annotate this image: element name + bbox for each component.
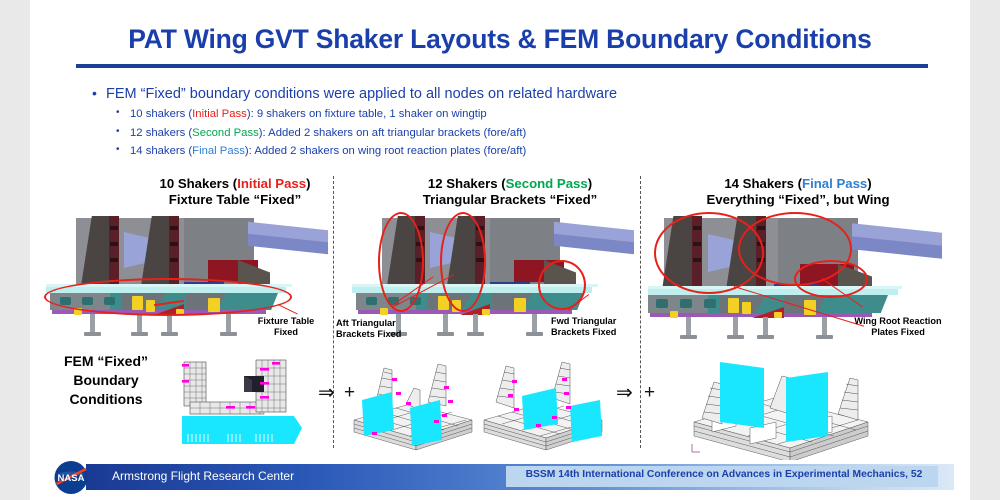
fem-fixed-region-2b-left bbox=[522, 388, 558, 430]
col2-paren: ) bbox=[588, 176, 592, 191]
col3-subtitle: Everything “Fixed”, but Wing bbox=[650, 192, 946, 208]
fem-fixed-region-2a-left bbox=[362, 392, 394, 436]
bullet-main: FEM “Fixed” boundary conditions were app… bbox=[90, 86, 910, 102]
col3-count: 14 Shakers ( bbox=[724, 176, 802, 191]
bullet-sub-2-highlight: Second Pass bbox=[192, 127, 259, 139]
operator-plus-2: + bbox=[644, 383, 655, 402]
fem-mesh-svg-2b bbox=[478, 358, 608, 454]
annotation-fwd-triangular: Fwd Triangular Brackets Fixed bbox=[551, 316, 637, 338]
column-separator-1 bbox=[333, 176, 334, 448]
annotation-wing-root: Wing Root Reaction Plates Fixed bbox=[843, 316, 953, 338]
bullet-sub-1-prefix: 10 shakers ( bbox=[130, 108, 192, 120]
column-header-2: 12 Shakers (Second Pass) Triangular Brac… bbox=[372, 176, 648, 207]
annotation-wing-root-line1: Wing Root Reaction bbox=[854, 316, 941, 326]
nasa-logo-text: NASA bbox=[58, 473, 85, 484]
column-header-3: 14 Shakers (Final Pass) Everything “Fixe… bbox=[650, 176, 946, 207]
col2-count: 12 Shakers ( bbox=[428, 176, 506, 191]
annotation-aft-line1: Aft Triangular bbox=[336, 318, 396, 328]
annotation-fixture-table: Fixture Table Fixed bbox=[244, 316, 328, 338]
bullet-sub-2-prefix: 12 shakers ( bbox=[130, 127, 192, 139]
column-separator-2 bbox=[640, 176, 641, 448]
fem-mesh-final-pass bbox=[678, 356, 883, 460]
annotation-fwd-line2: Brackets Fixed bbox=[551, 327, 616, 337]
annotation-fwd-line1: Fwd Triangular bbox=[551, 316, 616, 326]
fem-label-line2: Boundary bbox=[73, 372, 138, 388]
annotation-wing-root-line2: Plates Fixed bbox=[871, 327, 925, 337]
bullet-sub-2-suffix: ): Added 2 shakers on aft triangular bra… bbox=[259, 127, 527, 139]
bullet-sub-1-suffix: ): 9 shakers on fixture table, 1 shaker … bbox=[247, 108, 487, 120]
bullet-sub-1: 10 shakers (Initial Pass): 9 shakers on … bbox=[90, 107, 910, 121]
footer-center-name: Armstrong Flight Research Center bbox=[112, 469, 294, 483]
fem-mesh-initial-pass bbox=[182, 358, 332, 454]
annotation-aft-line2: Brackets Fixed bbox=[336, 329, 401, 339]
fem-fixed-plate-right bbox=[786, 372, 828, 442]
col3-pass-label: Final Pass bbox=[802, 176, 867, 191]
fem-fixed-plate-left bbox=[720, 362, 764, 428]
annotation-fixture-table-line1: Fixture Table bbox=[258, 316, 315, 326]
bullet-sub-2: 12 shakers (Second Pass): Added 2 shaker… bbox=[90, 126, 910, 140]
slide-canvas: PAT Wing GVT Shaker Layouts & FEM Bounda… bbox=[0, 0, 1000, 500]
col1-paren: ) bbox=[306, 176, 310, 191]
bullet-sub-3-highlight: Final Pass bbox=[192, 145, 245, 157]
bullet-sub-3-suffix: ): Added 2 shakers on wing root reaction… bbox=[245, 145, 526, 157]
col2-subtitle: Triangular Brackets “Fixed” bbox=[372, 192, 648, 208]
footer-conference-text: BSSM 14th International Conference on Ad… bbox=[512, 469, 936, 480]
right-margin-band bbox=[970, 0, 1000, 500]
page-title: PAT Wing GVT Shaker Layouts & FEM Bounda… bbox=[60, 24, 940, 55]
highlight-ellipse-fixture-table bbox=[44, 278, 292, 316]
fem-label-line3: Conditions bbox=[69, 391, 142, 407]
nasa-logo: NASA bbox=[50, 460, 112, 495]
col1-pass-label: Initial Pass bbox=[237, 176, 306, 191]
fem-mesh-second-pass-a bbox=[348, 358, 478, 454]
fem-mesh-svg-1 bbox=[182, 358, 332, 454]
operator-arrow-2: ⇒ bbox=[616, 382, 633, 402]
col3-paren: ) bbox=[867, 176, 871, 191]
col1-count: 10 Shakers ( bbox=[159, 176, 237, 191]
fem-mesh-second-pass-b bbox=[478, 358, 608, 454]
fem-boundary-conditions-label: FEM “Fixed” Boundary Conditions bbox=[36, 352, 176, 409]
coordinate-axes-icon bbox=[692, 444, 700, 452]
fem-fixed-region-2b-right bbox=[570, 400, 602, 442]
leader-line-fixture-table bbox=[278, 304, 298, 315]
highlight-ellipse-reaction-plate bbox=[794, 260, 868, 298]
bullet-sub-3-prefix: 14 shakers ( bbox=[130, 145, 192, 157]
bullet-sub-3: 14 shakers (Final Pass): Added 2 shakers… bbox=[90, 144, 910, 158]
bullet-sub-1-highlight: Initial Pass bbox=[192, 108, 247, 120]
col2-pass-label: Second Pass bbox=[506, 176, 588, 191]
left-margin-band bbox=[0, 0, 30, 500]
operator-arrow-1: ⇒ bbox=[318, 382, 335, 402]
col1-subtitle: Fixture Table “Fixed” bbox=[100, 192, 370, 208]
fem-mesh-svg-2a bbox=[348, 358, 478, 454]
annotation-aft-triangular: Aft Triangular Brackets Fixed bbox=[336, 318, 418, 340]
fem-mesh-svg-3 bbox=[678, 356, 883, 460]
title-divider bbox=[76, 64, 928, 68]
highlight-ellipse-aft-bracket-2 bbox=[440, 212, 486, 312]
annotation-fixture-table-line2: Fixed bbox=[274, 327, 298, 337]
bullet-list: FEM “Fixed” boundary conditions were app… bbox=[90, 86, 910, 163]
fem-label-line1: FEM “Fixed” bbox=[64, 353, 148, 369]
column-header-1: 10 Shakers (Initial Pass) Fixture Table … bbox=[100, 176, 370, 207]
